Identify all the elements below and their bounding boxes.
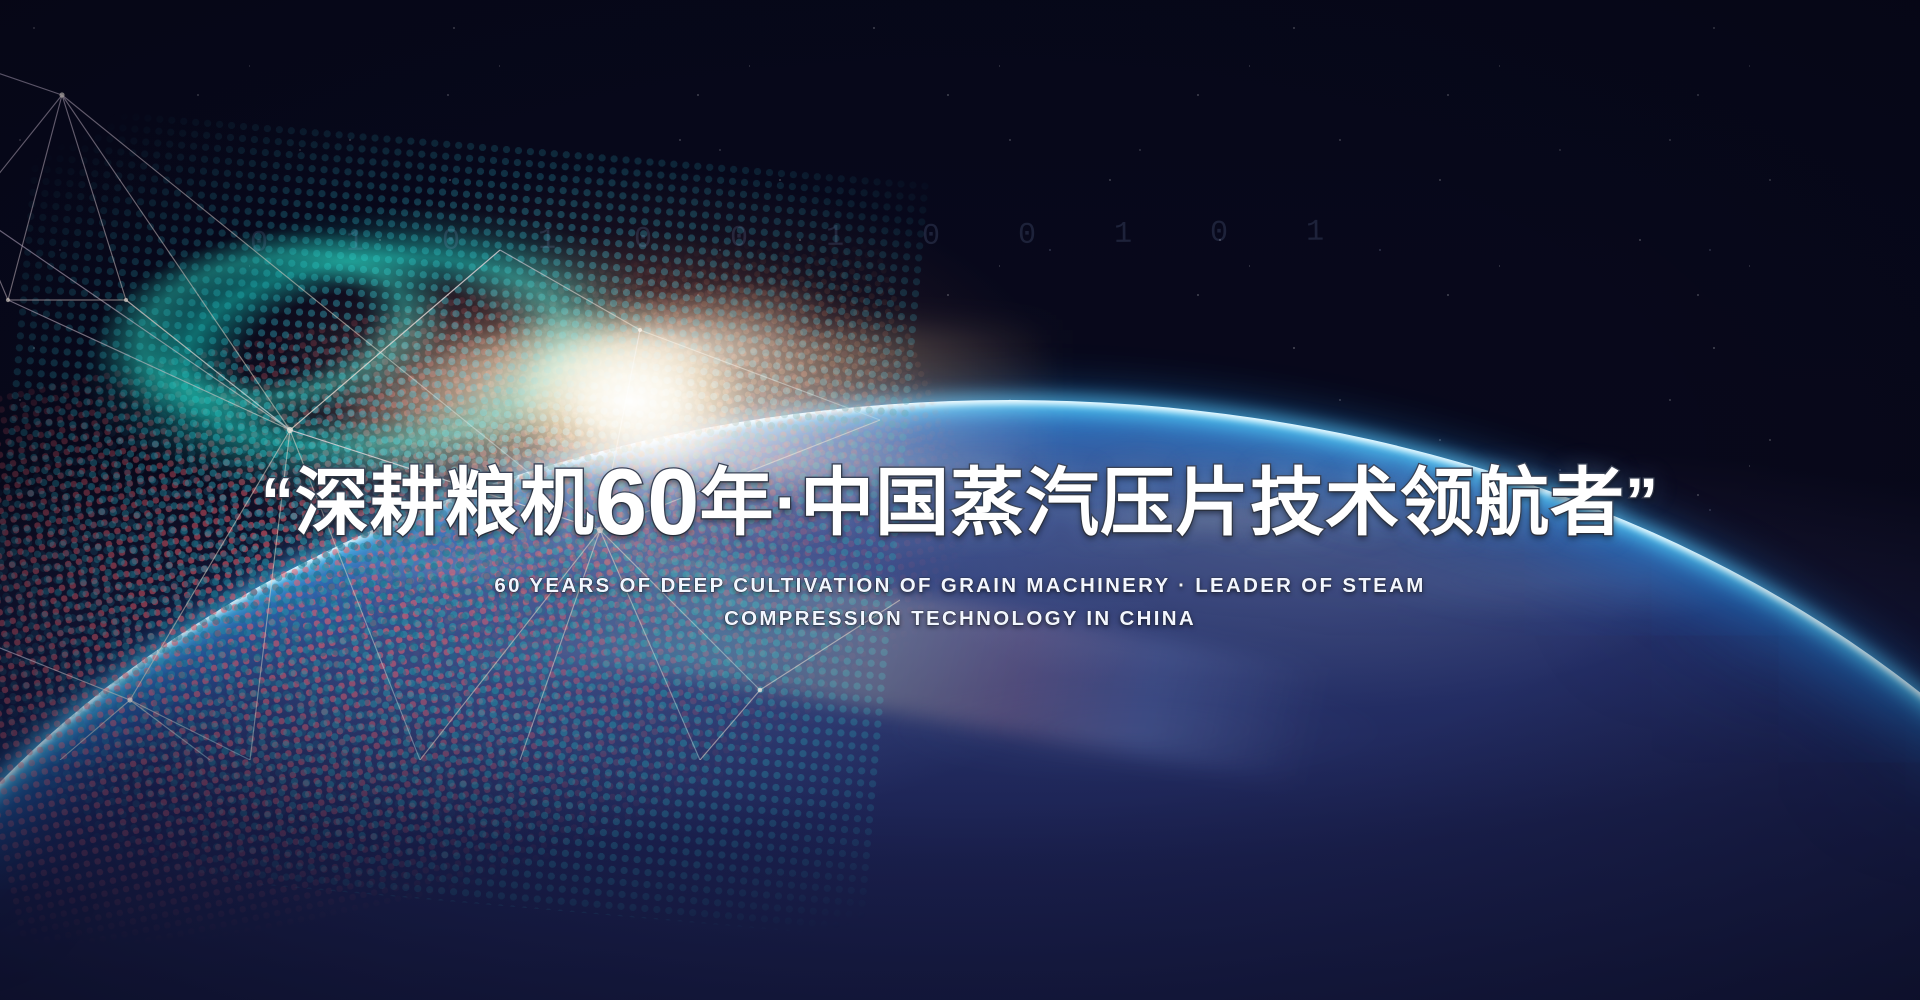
headline-segment-1: 深耕粮机: [295, 461, 595, 544]
binary-code-band: 0 1 0 1 0 0 1 0 0 1 0 1 0 0 1 0 1 1 0 1 …: [250, 209, 1370, 267]
right-wave-crest-accent: [0, 151, 536, 469]
banner-headline: “深耕粮机60年·中国蒸汽压片技术领航者”: [0, 452, 1920, 552]
headline-number-60: 60: [595, 449, 700, 554]
headline-segment-2: 年·中国蒸汽压片技术领航者: [699, 461, 1625, 544]
open-quote-mark: “: [261, 464, 295, 538]
banner-subtitle-line-2: COMPRESSION TECHNOLOGY IN CHINA: [0, 607, 1920, 631]
left-halftone-wave-secondary: [178, 123, 983, 766]
sunrise-glow: [180, 60, 1160, 820]
close-quote-mark: ”: [1625, 464, 1659, 538]
promo-banner: 0 1 0 1 0 0 1 0 0 1 0 1 0 0 1 0 1 1 0 1 …: [0, 0, 1920, 1000]
banner-subtitle-line-1: 60 YEARS OF DEEP CULTIVATION OF GRAIN MA…: [0, 574, 1920, 598]
network-mesh-graphic: [0, 0, 900, 760]
banner-text-block: “深耕粮机60年·中国蒸汽压片技术领航者” 60 YEARS OF DEEP C…: [0, 452, 1920, 631]
